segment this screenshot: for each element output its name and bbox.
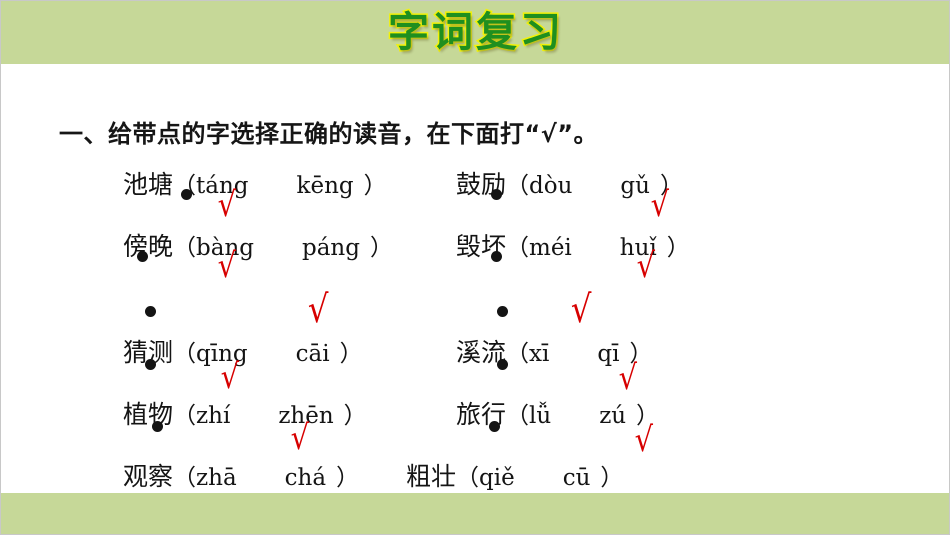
emphasis-dot-icon xyxy=(145,306,156,317)
question-heading: 一、给带点的字选择正确的读音，在下面打“√”。 xyxy=(59,114,598,149)
exercise-row: 傍晚（bàngpáng） √ 毁坏（méihuǐ） √ xyxy=(1,227,950,273)
option-b[interactable]: zú xyxy=(599,403,626,429)
open-paren: （ xyxy=(506,173,529,199)
open-paren: （ xyxy=(173,341,196,367)
open-paren: （ xyxy=(173,403,196,429)
exercise-item-guli[interactable]: 鼓励（dòugǔ） xyxy=(456,165,683,201)
exercise-item-chitang[interactable]: 池塘（tángkēng） xyxy=(123,165,387,201)
emphasis-dot-icon xyxy=(497,359,508,370)
exercise-content: 一、给带点的字选择正确的读音，在下面打“√”。 池塘（tángkēng） √ 鼓… xyxy=(1,64,950,493)
check-mark-icon: √ xyxy=(619,361,637,395)
option-a[interactable]: zhā xyxy=(196,465,237,491)
exercise-item-guancha[interactable]: 观察（zhāchá） xyxy=(123,457,359,493)
exercise-item-bangwan[interactable]: 傍晚（bàngpáng） xyxy=(123,227,393,263)
option-a[interactable]: qiě xyxy=(479,465,515,491)
emphasis-dot-icon xyxy=(152,421,163,432)
close-paren: ） xyxy=(600,465,623,491)
word-text: 傍晚 xyxy=(123,232,173,261)
word-text: 粗壮 xyxy=(406,462,456,491)
slide-canvas: 字词复习 一、给带点的字选择正确的读音，在下面打“√”。 池塘（tángkēng… xyxy=(0,0,950,535)
open-paren: （ xyxy=(506,403,529,429)
option-a[interactable]: dòu xyxy=(529,173,572,199)
open-paren: （ xyxy=(456,465,479,491)
exercise-item-cuzhuang[interactable]: 粗壮（qiěcū） xyxy=(406,457,623,493)
footer-band xyxy=(1,493,950,535)
exercise-row: 猜测（qīngcāi） √ 溪流（xīqī） √ xyxy=(1,333,950,379)
close-paren: ） xyxy=(667,235,690,261)
check-mark-icon: √ xyxy=(635,423,653,457)
emphasis-dot-icon xyxy=(489,421,500,432)
open-paren: （ xyxy=(173,235,196,261)
emphasis-dot-icon xyxy=(145,359,156,370)
check-mark-icon: √ xyxy=(571,292,592,326)
emphasis-dot-icon xyxy=(181,189,192,200)
stray-annotation-marks: √ √ xyxy=(1,292,950,328)
exercise-row: 池塘（tángkēng） √ 鼓励（dòugǔ） √ xyxy=(1,165,950,211)
word-text: 植物 xyxy=(123,400,173,429)
option-b[interactable]: qī xyxy=(597,341,619,367)
option-b[interactable]: kēng xyxy=(297,173,354,199)
close-paren: ） xyxy=(344,403,367,429)
word-text: 池塘 xyxy=(123,170,173,199)
option-a[interactable]: xī xyxy=(529,341,549,367)
exercise-row: 植物（zhízhēn） √ 旅行（lǚzú） √ xyxy=(1,395,950,441)
exercise-item-caice[interactable]: 猜测（qīngcāi） xyxy=(123,333,363,369)
close-paren: ） xyxy=(364,173,387,199)
emphasis-dot-icon xyxy=(491,251,502,262)
option-b[interactable]: gǔ xyxy=(620,173,650,199)
open-paren: （ xyxy=(506,235,529,261)
option-b[interactable]: cū xyxy=(563,465,591,491)
emphasis-dot-icon xyxy=(491,189,502,200)
check-mark-icon: √ xyxy=(637,249,655,283)
close-paren: ） xyxy=(340,341,363,367)
open-paren: （ xyxy=(506,341,529,367)
option-a[interactable]: méi xyxy=(529,235,572,261)
check-mark-icon: √ xyxy=(218,249,236,283)
check-mark-icon: √ xyxy=(308,292,329,326)
word-text: 观察 xyxy=(123,462,173,491)
close-paren: ） xyxy=(370,235,393,261)
exercise-item-lvxing[interactable]: 旅行（lǚzú） xyxy=(456,395,659,431)
option-a[interactable]: zhí xyxy=(196,403,230,429)
check-mark-icon: √ xyxy=(291,421,309,455)
emphasis-dot-icon xyxy=(137,251,148,262)
emphasis-dot-icon xyxy=(497,306,508,317)
option-a[interactable]: lǚ xyxy=(529,403,551,429)
option-b[interactable]: páng xyxy=(302,235,360,261)
check-mark-icon: √ xyxy=(218,188,236,222)
check-mark-icon: √ xyxy=(221,360,239,394)
open-paren: （ xyxy=(173,465,196,491)
option-b[interactable]: chá xyxy=(285,465,326,491)
page-title: 字词复习 xyxy=(1,4,950,60)
check-mark-icon: √ xyxy=(651,188,669,222)
close-paren: ） xyxy=(336,465,359,491)
option-b[interactable]: cāi xyxy=(296,341,330,367)
